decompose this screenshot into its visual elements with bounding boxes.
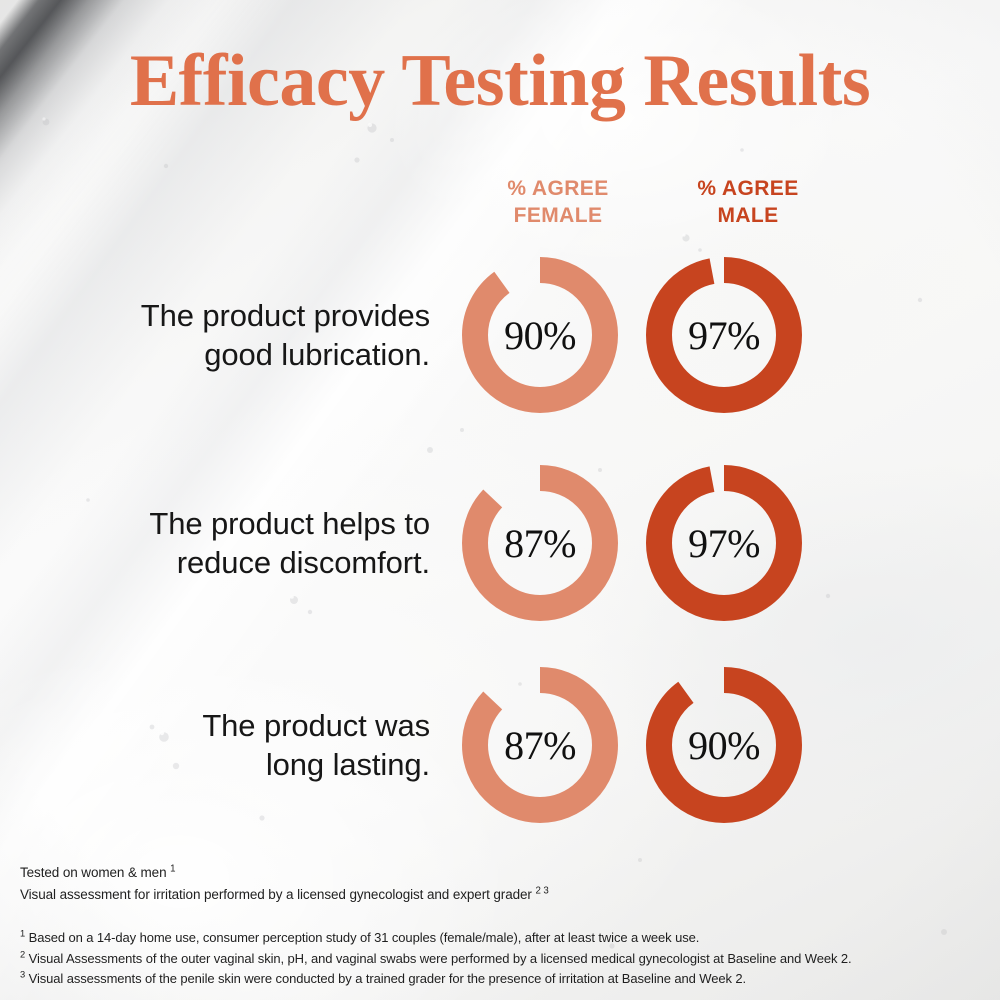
donut-cell-male: 97% (632, 465, 816, 621)
column-header-male-line2: MALE (648, 203, 848, 230)
footnote-item: 3 Visual assessments of the penile skin … (20, 969, 970, 990)
donut-chart-female: 87% (462, 465, 618, 621)
donut-value-male: 97% (646, 465, 802, 621)
footnotes-block: Tested on women & men 1 Visual assessmen… (20, 862, 970, 990)
footnote-item: 2 Visual Assessments of the outer vagina… (20, 949, 970, 970)
statement-line2: reduce discomfort. (0, 543, 430, 582)
donut-value-male: 90% (646, 667, 802, 823)
donut-cell-male: 97% (632, 257, 816, 413)
donut-chart-female: 90% (462, 257, 618, 413)
footnote-summary-line: Visual assessment for irritation perform… (20, 884, 970, 906)
statement-line2: long lasting. (0, 745, 430, 784)
footnote-summary-text: Visual assessment for irritation perform… (20, 887, 535, 902)
statement-text: The product helps to reduce discomfort. (0, 504, 448, 582)
result-row: The product helps to reduce discomfort. … (0, 463, 1000, 623)
footnote-text: Based on a 14-day home use, consumer per… (25, 930, 699, 945)
statement-line1: The product helps to (149, 506, 430, 541)
donut-cell-female: 87% (448, 667, 632, 823)
donut-value-female: 90% (462, 257, 618, 413)
donut-value-female: 87% (462, 465, 618, 621)
column-header-female-line1: % AGREE (507, 177, 608, 200)
statement-line1: The product provides (141, 298, 430, 333)
footnote-item: 1 Based on a 14-day home use, consumer p… (20, 928, 970, 949)
statement-text: The product was long lasting. (0, 706, 448, 784)
donut-chart-male: 97% (646, 465, 802, 621)
donut-chart-female: 87% (462, 667, 618, 823)
donut-cell-female: 90% (448, 257, 632, 413)
donut-chart-male: 97% (646, 257, 802, 413)
result-row: The product was long lasting. 87% 90% (0, 665, 1000, 825)
donut-cell-female: 87% (448, 465, 632, 621)
page-title: Efficacy Testing Results (0, 44, 1000, 118)
footnote-text: Visual assessments of the penile skin we… (25, 971, 746, 986)
result-row: The product provides good lubrication. 9… (0, 255, 1000, 415)
donut-cell-male: 90% (632, 667, 816, 823)
column-header-male: % AGREE MALE (648, 176, 848, 230)
footnote-summary-line: Tested on women & men 1 (20, 862, 970, 884)
column-header-male-line1: % AGREE (697, 177, 798, 200)
column-header-female: % AGREE FEMALE (458, 176, 658, 230)
donut-value-female: 87% (462, 667, 618, 823)
footnote-marker: 2 3 (535, 885, 548, 896)
statement-line2: good lubrication. (0, 335, 430, 374)
donut-chart-male: 90% (646, 667, 802, 823)
statement-text: The product provides good lubrication. (0, 296, 448, 374)
footnote-list: 1 Based on a 14-day home use, consumer p… (20, 928, 970, 990)
footnote-marker: 1 (170, 864, 175, 875)
footnote-summary-text: Tested on women & men (20, 865, 170, 880)
infographic-canvas: Efficacy Testing Results % AGREE FEMALE … (0, 0, 1000, 1000)
column-header-female-line2: FEMALE (458, 203, 658, 230)
statement-line1: The product was (202, 708, 430, 743)
donut-value-male: 97% (646, 257, 802, 413)
footnote-text: Visual Assessments of the outer vaginal … (25, 951, 851, 966)
footnote-summary: Tested on women & men 1 Visual assessmen… (20, 862, 970, 906)
